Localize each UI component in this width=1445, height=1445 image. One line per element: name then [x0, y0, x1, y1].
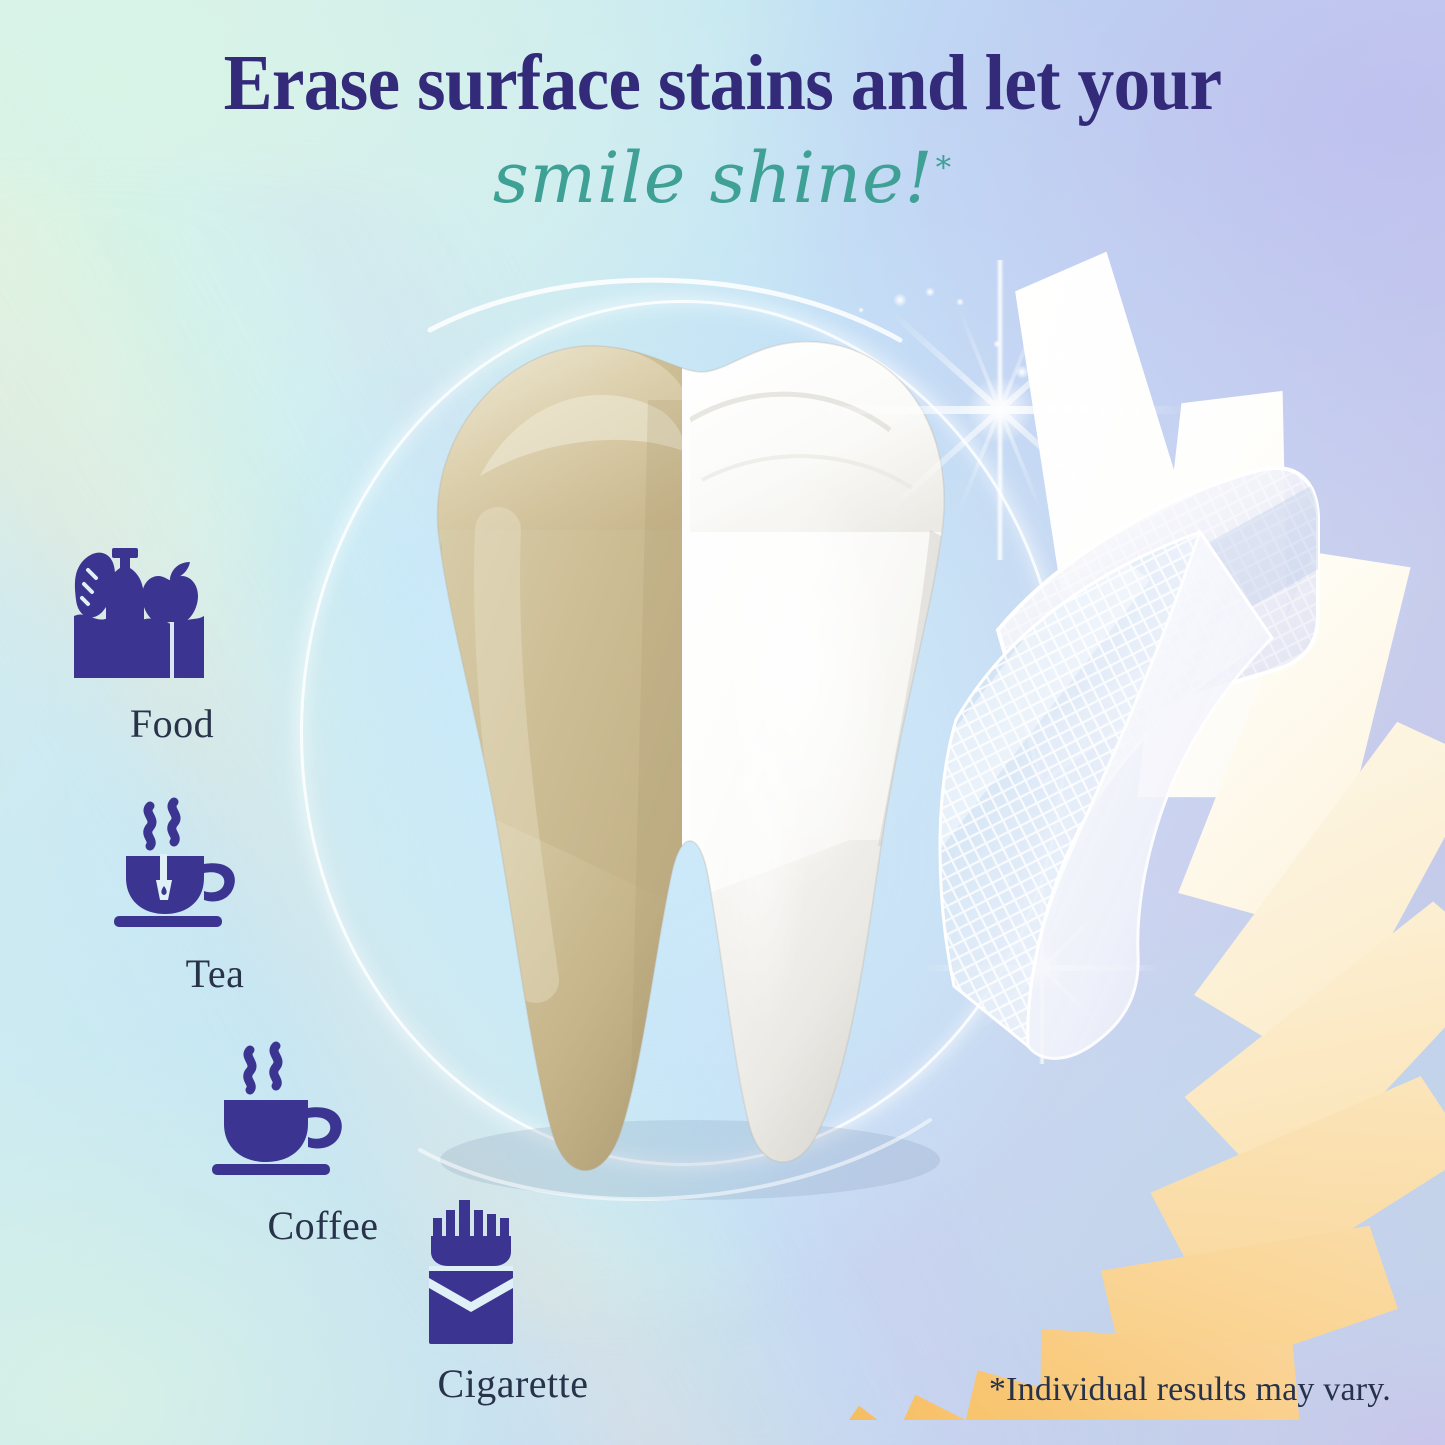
whitening-strips-ad-poster: Food [0, 0, 1445, 1445]
footnote-disclaimer: *Individual results may vary. [989, 1371, 1391, 1409]
grocery-bag-icon [62, 536, 212, 686]
stain-source-label: Cigarette [398, 1360, 628, 1407]
stain-source-label: Food [62, 700, 282, 747]
stain-source-cigarette[interactable]: Cigarette [398, 1196, 628, 1407]
stain-source-food[interactable]: Food [62, 536, 282, 747]
coffee-cup-icon [208, 1038, 358, 1188]
stain-source-tea[interactable]: Tea [110, 796, 320, 997]
stain-source-label: Tea [110, 950, 320, 997]
stain-sources-list: Food [0, 0, 1445, 1445]
cigarette-pack-icon [398, 1196, 548, 1346]
tea-cup-icon [110, 796, 250, 936]
